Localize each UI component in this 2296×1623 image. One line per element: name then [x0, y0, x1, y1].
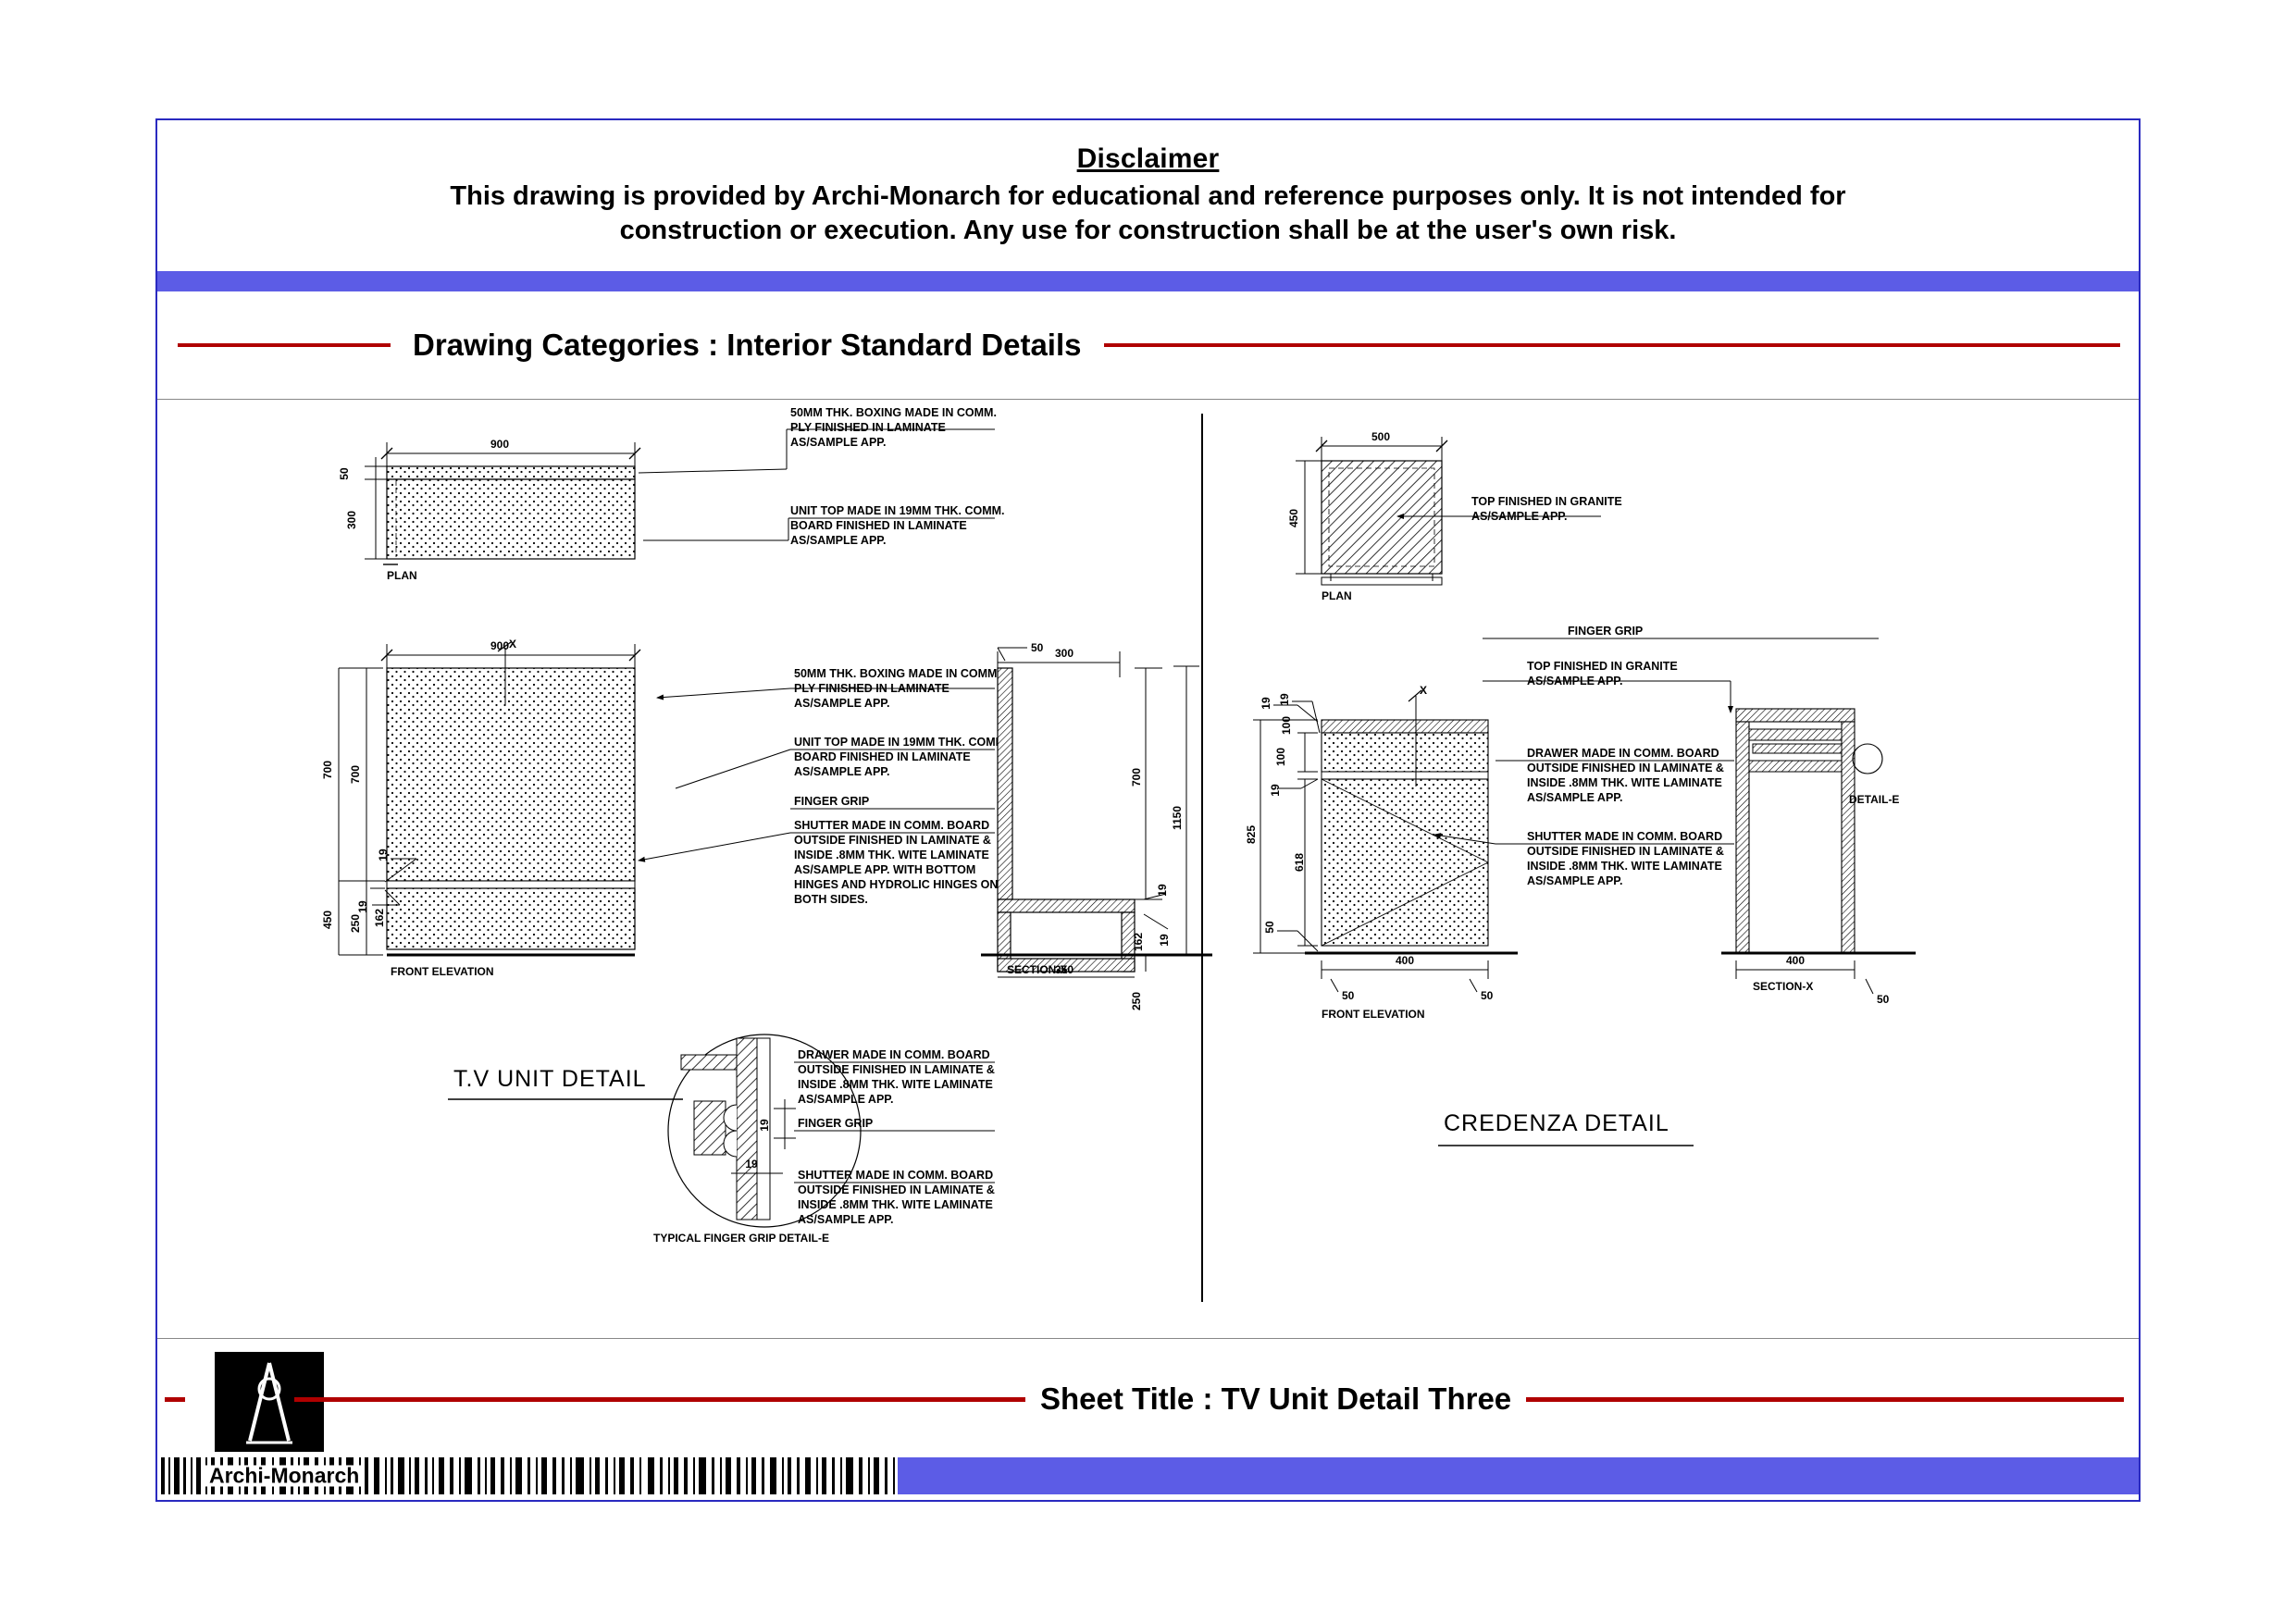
dim-credenza-50a: 50: [1263, 921, 1276, 934]
dim-credenza-plan-450: 450: [1287, 509, 1300, 527]
dim-credenza-sec-50: 50: [1877, 993, 1890, 1006]
label-plan-tv: PLAN: [387, 569, 417, 582]
dim-credenza-100b: 100: [1274, 748, 1287, 766]
credenza-notes: FINGER GRIP TOP FINISHED IN GRANITE AS/S…: [1434, 625, 1879, 887]
dim-elev-250: 250: [349, 914, 362, 933]
note-credenza-drawer-l1: DRAWER MADE IN COMM. BOARD: [1527, 747, 1719, 760]
technical-drawing-svg: 900 50 300 PLAN 50MM THK. BOXING MADE: [157, 400, 2142, 1338]
dim-credenza-19c: 19: [1269, 784, 1282, 797]
dim-sec-19b: 19: [1158, 934, 1171, 947]
dim-grip-19a: 19: [758, 1119, 771, 1132]
disclaimer-line-2: construction or execution. Any use for c…: [232, 214, 2065, 248]
dim-credenza-100a: 100: [1280, 716, 1293, 735]
note-elev-shutter-l6: BOTH SIDES.: [794, 893, 868, 906]
tv-unit-section-x: 50 300 700 1150 19 19 162: [981, 641, 1212, 1010]
note-elev-unittop-l2: BOARD FINISHED IN LAMINATE: [794, 750, 971, 763]
category-rule-left: [178, 343, 391, 347]
note-grip-drawer-l4: AS/SAMPLE APP.: [798, 1093, 894, 1106]
dim-sec-700: 700: [1130, 768, 1143, 787]
note-elev-boxing-l2: PLY FINISHED IN LAMINATE: [794, 682, 949, 695]
credenza-section-x: DETAIL-E 400 50 SECTION-X: [1721, 709, 1916, 1006]
note-credenza-drawer-l3: INSIDE .8MM THK. WITE LAMINATE: [1527, 776, 1722, 789]
note-grip-drawer-l2: OUTSIDE FINISHED IN LAMINATE &: [798, 1063, 995, 1076]
sheet-title-row: Sheet Title : TV Unit Detail Three: [157, 1380, 2139, 1419]
header-accent-bar: [157, 271, 2139, 291]
drawing-sheet: Disclaimer This drawing is provided by A…: [155, 118, 2141, 1502]
note-grip-shutter-l4: AS/SAMPLE APP.: [798, 1213, 894, 1226]
note-boxing-l2: PLY FINISHED IN LAMINATE: [790, 421, 946, 434]
credenza-title-group: CREDENZA DETAIL: [1438, 1110, 1694, 1146]
dim-elev-19a: 19: [377, 849, 390, 861]
title-rule-2: [294, 1397, 1025, 1402]
note-elev-shutter-l3: INSIDE .8MM THK. WITE LAMINATE: [794, 849, 989, 861]
dim-credenza-50c: 50: [1481, 989, 1494, 1002]
dim-sec-50: 50: [1031, 641, 1044, 654]
tv-unit-plan: 900 50 300 PLAN: [338, 438, 640, 582]
note-elev-shutter-l4: AS/SAMPLE APP. WITH BOTTOM: [794, 863, 975, 876]
tv-elev-notes: 50MM THK. BOXING MADE IN COMM. PLY FINIS…: [639, 667, 1009, 906]
dim-elev-19b: 19: [356, 900, 369, 913]
dim-credenza-sec-400: 400: [1786, 954, 1805, 967]
note-granite-plan-l2: AS/SAMPLE APP.: [1471, 510, 1568, 523]
dim-credenza-plan-500: 500: [1371, 430, 1390, 443]
dim-sec-250: 250: [1130, 992, 1143, 1010]
note-elev-boxing-l1: 50MM THK. BOXING MADE IN COMM.: [794, 667, 1000, 680]
label-plan-credenza: PLAN: [1322, 589, 1352, 602]
note-credenza-granite-l2: AS/SAMPLE APP.: [1527, 675, 1623, 688]
dim-elev-900: 900: [490, 639, 509, 652]
note-unittop-l1: UNIT TOP MADE IN 19MM THK. COMM.: [790, 504, 1005, 517]
note-elev-fingergrip: FINGER GRIP: [794, 795, 869, 808]
dim-sec-1150: 1150: [1171, 806, 1184, 830]
dim-sec-162: 162: [1132, 933, 1145, 951]
drawing-category-label: Drawing Categories : Interior Standard D…: [391, 328, 1104, 363]
dim-plan-50: 50: [338, 467, 351, 480]
note-unittop-l3: AS/SAMPLE APP.: [790, 534, 887, 547]
disclaimer-title: Disclaimer: [1077, 143, 1220, 175]
note-grip-drawer-l3: INSIDE .8MM THK. WITE LAMINATE: [798, 1078, 993, 1091]
label-front-elev-tv: FRONT ELEVATION: [391, 965, 494, 978]
dim-plan-300: 300: [345, 511, 358, 529]
category-rule-right: [1104, 343, 2121, 347]
dim-grip-19b: 19: [745, 1158, 758, 1171]
tv-note-unit-top: UNIT TOP MADE IN 19MM THK. COMM. BOARD F…: [643, 504, 1005, 547]
brand-name: Archi-Monarch: [205, 1466, 363, 1487]
barcode-strip: Archi-Monarch: [157, 1457, 2139, 1494]
title-rule-1: [165, 1397, 185, 1402]
section-mark-x-credenza: X: [1420, 684, 1427, 697]
dim-elev-700-inner: 700: [349, 765, 362, 784]
drawing-category-band: Drawing Categories : Interior Standard D…: [157, 291, 2139, 399]
disclaimer-block: Disclaimer This drawing is provided by A…: [157, 120, 2139, 271]
section-mark-x-tv: X: [509, 638, 516, 650]
dim-credenza-618: 618: [1293, 853, 1306, 872]
note-elev-shutter-l1: SHUTTER MADE IN COMM. BOARD: [794, 819, 989, 832]
credenza-plan: 500 450 PLAN TOP FINISHED IN GRANITE AS/…: [1287, 430, 1622, 602]
note-boxing-l1: 50MM THK. BOXING MADE IN COMM.: [790, 406, 997, 419]
note-elev-unittop-l1: UNIT TOP MADE IN 19MM THK. COMM.: [794, 736, 1009, 749]
note-boxing-l3: AS/SAMPLE APP.: [790, 436, 887, 449]
label-section-tv: SECTION-X: [1007, 963, 1067, 976]
note-elev-shutter-l5: HINGES AND HYDROLIC HINGES ON: [794, 878, 998, 891]
note-credenza-drawer-l2: OUTSIDE FINISHED IN LAMINATE &: [1527, 762, 1724, 774]
note-credenza-shutter-l4: AS/SAMPLE APP.: [1527, 874, 1623, 887]
note-grip-shutter-l2: OUTSIDE FINISHED IN LAMINATE &: [798, 1183, 995, 1196]
footer-accent-bar: [898, 1457, 2139, 1494]
tv-unit-front-elevation: X 900 700 700 450 250: [321, 638, 640, 978]
finger-grip-detail-title: TYPICAL FINGER GRIP DETAIL-E: [653, 1232, 829, 1245]
note-grip-drawer-l1: DRAWER MADE IN COMM. BOARD: [798, 1048, 990, 1061]
drawing-canvas: 900 50 300 PLAN 50MM THK. BOXING MADE: [157, 400, 2139, 1338]
note-credenza-shutter-l1: SHUTTER MADE IN COMM. BOARD: [1527, 830, 1722, 843]
note-elev-boxing-l3: AS/SAMPLE APP.: [794, 697, 890, 710]
note-credenza-shutter-l2: OUTSIDE FINISHED IN LAMINATE &: [1527, 845, 1724, 858]
note-unittop-l2: BOARD FINISHED IN LAMINATE: [790, 519, 967, 532]
note-credenza-fingergrip: FINGER GRIP: [1568, 625, 1643, 638]
dim-credenza-400: 400: [1396, 954, 1414, 967]
note-elev-unittop-l3: AS/SAMPLE APP.: [794, 765, 890, 778]
label-section-credenza: SECTION-X: [1753, 980, 1813, 993]
dim-plan-900: 900: [490, 438, 509, 451]
note-grip-shutter-l1: SHUTTER MADE IN COMM. BOARD: [798, 1169, 993, 1182]
dim-credenza-825: 825: [1245, 825, 1258, 844]
finger-grip-detail: 19 19 DRAWER MADE IN COMM. BOARD OUTSIDE…: [653, 1035, 995, 1245]
note-grip-shutter-l3: INSIDE .8MM THK. WITE LAMINATE: [798, 1198, 993, 1211]
dim-credenza-19a: 19: [1260, 697, 1272, 710]
disclaimer-line-1: This drawing is provided by Archi-Monarc…: [232, 180, 2065, 214]
dim-sec-300: 300: [1055, 647, 1074, 660]
tv-unit-title: T.V UNIT DETAIL: [453, 1066, 647, 1092]
tv-note-boxing: 50MM THK. BOXING MADE IN COMM. PLY FINIS…: [639, 406, 997, 473]
credenza-title: CREDENZA DETAIL: [1444, 1110, 1669, 1136]
note-elev-shutter-l2: OUTSIDE FINISHED IN LAMINATE &: [794, 834, 991, 847]
dim-credenza-50b: 50: [1342, 989, 1355, 1002]
sheet-footer: Sheet Title : TV Unit Detail Three: [157, 1339, 2139, 1502]
sheet-title-text: Sheet Title : TV Unit Detail Three: [1025, 1381, 1526, 1417]
detail-e-callout: DETAIL-E: [1849, 793, 1899, 806]
dim-elev-162: 162: [373, 909, 386, 927]
label-front-elev-credenza: FRONT ELEVATION: [1322, 1008, 1425, 1021]
credenza-front-elevation: X 825 100 100 618 19: [1245, 684, 1518, 1021]
note-credenza-shutter-l3: INSIDE .8MM THK. WITE LAMINATE: [1527, 860, 1722, 873]
tv-unit-title-group: T.V UNIT DETAIL: [448, 1066, 683, 1099]
dim-elev-700-outer: 700: [321, 761, 334, 779]
title-rule-3: [1526, 1397, 2124, 1402]
note-credenza-granite-l1: TOP FINISHED IN GRANITE: [1527, 660, 1678, 673]
barcode-image: Archi-Monarch: [157, 1457, 898, 1494]
dim-credenza-19b: 19: [1278, 693, 1291, 706]
note-granite-plan-l1: TOP FINISHED IN GRANITE: [1471, 495, 1622, 508]
note-grip-fingergrip: FINGER GRIP: [798, 1117, 873, 1130]
dim-elev-450: 450: [321, 911, 334, 929]
dim-sec-19a: 19: [1156, 884, 1169, 897]
note-credenza-drawer-l4: AS/SAMPLE APP.: [1527, 791, 1623, 804]
